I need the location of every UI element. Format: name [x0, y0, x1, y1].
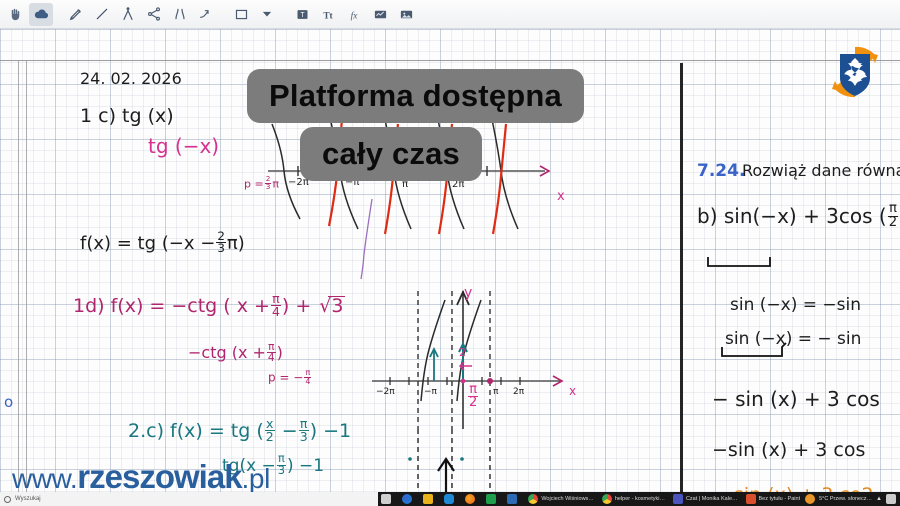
- taskbar-window-chrome-1[interactable]: Wojciech Wiśniows…: [525, 494, 593, 504]
- g2-tick-label-pi: π: [493, 387, 498, 397]
- chrome-icon-2: [602, 494, 612, 504]
- teams-icon: [673, 494, 683, 504]
- page-top-rule: [0, 60, 680, 61]
- note-ex724-number: 7.24.: [697, 161, 745, 181]
- note-date: 24. 02. 2026: [80, 69, 182, 88]
- g2-axis-label-y: y: [464, 285, 472, 301]
- windows-taskbar: Wyszukaj Wojciech Wiśniows… helper - kos…: [0, 492, 900, 506]
- note-ex724-command: Rozwiąż dane równan: [742, 161, 900, 180]
- share-node-icon[interactable]: [142, 3, 166, 26]
- taskbar-window-label-3: Czat | Monika Kale…: [686, 496, 738, 502]
- note-ex1c-pink: tg (−x): [148, 134, 219, 158]
- image-icon[interactable]: [394, 3, 418, 26]
- paint-icon: [746, 494, 756, 504]
- watermark-prefix: www.: [12, 463, 77, 494]
- eraser-cloud-icon[interactable]: [29, 3, 53, 26]
- g2-tick-label-2pi: 2π: [513, 387, 524, 397]
- firefox-icon: [465, 494, 475, 504]
- watermark-brand: rzeszowiak: [77, 458, 241, 495]
- note-step-1: − sin (x) + 3 cos: [712, 387, 880, 411]
- search-icon: [4, 496, 11, 503]
- graph-tangent-3: [408, 429, 490, 492]
- pen-icon[interactable]: [64, 3, 88, 26]
- g2-tick-label-pi-half: π2: [467, 385, 479, 411]
- search-placeholder: Wyszukaj: [15, 496, 41, 502]
- promo-banner-line-2: cały czas: [300, 127, 482, 181]
- network-icon[interactable]: [886, 494, 896, 504]
- note-step-2: −sin (x) + 3 cos: [712, 439, 865, 461]
- drawing-toolbar: T Tt fx: [0, 0, 900, 29]
- chevron-up-icon[interactable]: ▲: [876, 496, 882, 502]
- taskbar-window-paint[interactable]: Bez tytułu - Paint: [743, 494, 801, 504]
- formula-icon[interactable]: fx: [342, 3, 366, 26]
- taskbar-window-label: Wojciech Wiśniows…: [541, 496, 593, 502]
- g2-tick-label-negpi: −π: [424, 387, 437, 397]
- panel-divider: [680, 63, 683, 492]
- arrow-icon[interactable]: [194, 3, 218, 26]
- note-ex1d-label: 1d) f(x) = −ctg ( x +π4) + √3: [73, 294, 343, 319]
- sun-cloud-icon[interactable]: [805, 494, 815, 504]
- taskbar-window-chrome-2[interactable]: helper - kosmetyki…: [599, 494, 665, 504]
- taskbar-app-excel[interactable]: [483, 494, 499, 504]
- app-window: T Tt fx: [0, 0, 900, 506]
- g2-axis-label-x: x: [569, 384, 576, 398]
- taskbar-window-teams[interactable]: Czat | Monika Kale…: [670, 494, 738, 504]
- margin-rule-left: [18, 60, 19, 492]
- taskbar-window-label-2: helper - kosmetyki…: [615, 496, 665, 502]
- promo-banner: Platforma dostępna cały czas: [247, 69, 651, 181]
- store-icon: [507, 494, 517, 504]
- note-ex1c-label: 1 c) tg (x): [80, 105, 174, 127]
- note-ex724-item-b: b) sin(−x) + 3cos (π2 − x ): [697, 204, 900, 231]
- curve-icon[interactable]: [168, 3, 192, 26]
- chevron-down-icon[interactable]: [255, 3, 279, 26]
- svg-text:Tt: Tt: [323, 11, 333, 21]
- taskbar-app-onedrive[interactable]: [441, 494, 457, 504]
- watermark-url: www.rzeszowiak.pl: [12, 458, 270, 496]
- taskbar-search[interactable]: Wyszukaj: [0, 492, 378, 506]
- textbox-icon[interactable]: T: [290, 3, 314, 26]
- edge-icon: [402, 494, 412, 504]
- text-tool-icon[interactable]: Tt: [316, 3, 340, 26]
- g2-tick-label-neg2pi: −2π: [376, 387, 395, 397]
- note-ex2c-label: 2.c) f(x) = tg (x2 −π3) −1: [128, 419, 351, 444]
- rectangle-icon[interactable]: [229, 3, 253, 26]
- taskbar-app-mail[interactable]: [420, 494, 436, 504]
- compass-icon[interactable]: [116, 3, 140, 26]
- weather-text[interactable]: 5°C Przew. słonecz…: [819, 496, 872, 502]
- watermark-suffix: .pl: [242, 463, 270, 494]
- taskbar-window-label-4: Bez tytułu - Paint: [759, 496, 801, 502]
- note-ex1d-sub: −ctg (x +π4): [188, 343, 283, 364]
- mail-icon: [423, 494, 433, 504]
- margin-rule-left-2: [26, 60, 27, 492]
- note-identity-1: sin (−x) = −sin: [730, 295, 861, 315]
- notebook-canvas[interactable]: −2π −π π 2π x −2π −π π 2π x y π2 2 24. 0…: [0, 29, 900, 492]
- chart-icon[interactable]: [368, 3, 392, 26]
- promo-banner-line-1: Platforma dostępna: [247, 69, 584, 123]
- taskbar-app-edge[interactable]: [399, 494, 415, 504]
- taskbar-app-firefox[interactable]: [462, 494, 478, 504]
- svg-text:fx: fx: [351, 10, 359, 21]
- excel-icon: [486, 494, 496, 504]
- task-view-icon: [381, 494, 391, 504]
- taskbar-tray: 5°C Przew. słonecz… ▲: [805, 494, 900, 504]
- g2-annotation-value-2: 2: [459, 346, 466, 359]
- taskbar-app-store[interactable]: [504, 494, 520, 504]
- taskbar-app-task-view[interactable]: [378, 494, 394, 504]
- g1-axis-label-x: x: [557, 189, 565, 204]
- note-stray-mark: o: [4, 393, 13, 411]
- rzeszow-coat-of-arms-logo: [824, 41, 886, 103]
- note-ex1d-period: p = −π4: [268, 370, 312, 386]
- chrome-icon: [528, 494, 538, 504]
- line-icon[interactable]: [90, 3, 114, 26]
- note-identity-2: sin (−x) = − sin: [725, 329, 861, 349]
- note-ex1c-function: f(x) = tg (−x −23π): [80, 232, 245, 256]
- pan-hand-icon[interactable]: [3, 3, 27, 26]
- onedrive-icon: [444, 494, 454, 504]
